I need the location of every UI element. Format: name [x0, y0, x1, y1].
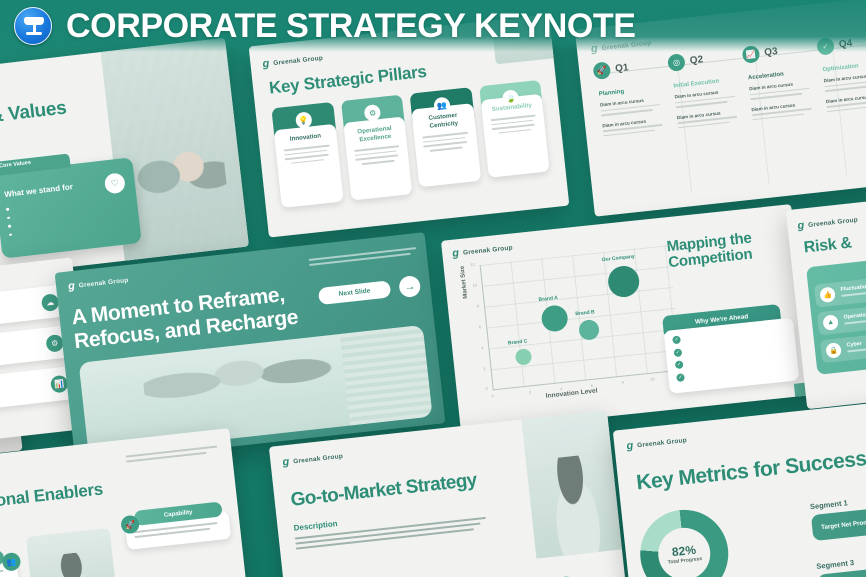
y-axis-label: Market Size: [460, 265, 469, 298]
thumbs-up-icon: 👍: [819, 287, 836, 304]
why-ahead-panel: Why We're Ahead ✓ ✓ ✓ ✓: [662, 303, 799, 394]
timeline-item-title: Diam in arcu cursus: [600, 96, 664, 108]
brand-mark: g: [590, 43, 598, 55]
brand-name: Greenak Group: [463, 244, 513, 256]
segment-label: Segment 1: [809, 486, 866, 511]
brand-name: Greenak Group: [293, 453, 343, 465]
brand-logo: g Greenak Group: [0, 65, 93, 97]
brand-name: Greenak Group: [273, 55, 323, 67]
lock-icon: 🔒: [825, 342, 842, 359]
slide-title: Mission & Values: [0, 94, 98, 137]
quarter-label: Q1: [615, 62, 629, 74]
timeline-column[interactable]: ◎Q2 Initial Execution Diam in arcu cursu…: [667, 47, 746, 136]
slide-photo: [26, 528, 118, 577]
slide-reframe[interactable]: g Greenak Group Next Slide → A Moment to…: [55, 232, 446, 464]
check-icon: ✓: [673, 348, 682, 357]
pillar-label: Customer Centricity: [418, 111, 469, 132]
timeline-item-title: Diam in arcu cursus: [674, 88, 738, 100]
risk-label: Fluctuation: [840, 275, 866, 293]
risk-label: Operational: [843, 303, 866, 321]
slide-title: Key Metrics for Success: [635, 442, 866, 495]
target-icon: ◎: [667, 53, 686, 72]
segment-block: Segment 1 Target Net Promoter Score: 75: [809, 486, 866, 541]
slide-mission-values[interactable]: g Greenak Group Mission & Values C: [0, 38, 249, 285]
timeline-column[interactable]: 🚀Q1 Planning Diam in arcu cursus Diam in…: [592, 55, 671, 144]
warning-triangle-icon: ▲: [822, 314, 839, 331]
chart-up-icon: 📈: [742, 45, 761, 64]
pillar-card[interactable]: ⚙ Operational Excellence: [340, 95, 412, 201]
row-label: Infrastructure: [0, 294, 41, 316]
timeline-column[interactable]: 📈Q3 Acceleration Diam in arcu cursus Dia…: [742, 39, 821, 128]
slide-implementation-timeline[interactable]: g Greenak Group 🚀Q1 Planning Diam in arc…: [575, 0, 866, 217]
check-icon: ✓: [672, 335, 681, 344]
pillar-card[interactable]: 👥 Customer Centricity: [410, 87, 482, 193]
phase-label: Planning: [599, 85, 663, 98]
slide-photo: [490, 14, 557, 64]
brand-mark: g: [626, 441, 634, 453]
brand-name: Greenak Group: [601, 40, 651, 52]
segment-label: Segment 3: [816, 546, 866, 571]
bubble-chart: 12 10 8 6 4 2 0 0 2 4 6 8 10 Brand C Bra…: [480, 245, 682, 390]
panel-title: Strategic R: [813, 258, 866, 279]
quarter-label: Q4: [838, 38, 852, 50]
brand-mark: g: [262, 59, 270, 71]
brand-logo: g Greenak Group: [626, 411, 866, 452]
strategic-risk-panel: Strategic R 👍 Fluctuation ▲ Operational …: [806, 251, 866, 375]
segment-metric-text: Target Net Promoter Score:: [821, 515, 866, 530]
row-label: Data Analytics: [0, 376, 51, 398]
slide-photo: [521, 410, 622, 558]
x-axis-label: Innovation Level: [545, 387, 597, 399]
brand-mark: g: [797, 220, 805, 232]
pillar-label: Innovation: [280, 131, 330, 144]
timeline-column[interactable]: ✓Q4 Optimization Diam in arcu cursus Dia…: [816, 31, 866, 120]
preview-canvas: CORPORATE STRATEGY KEYNOTE g Greenak Gro…: [0, 0, 866, 577]
quarter-label: Q3: [764, 46, 778, 58]
phase-label: Optimization: [822, 60, 866, 73]
brand-mark: g: [452, 248, 460, 260]
check-icon: ✓: [816, 37, 835, 56]
rocket-icon: 🚀: [592, 61, 611, 80]
brand-name: Greenak Group: [808, 217, 858, 229]
brand-mark: g: [282, 457, 290, 469]
progress-donut-chart: 82% Total Progress: [636, 505, 733, 577]
core-values-card: Core Values What we stand for ♡: [0, 157, 142, 259]
risk-label: Cyber: [846, 331, 866, 349]
row-label: Automation Tools: [0, 335, 46, 357]
timeline-item-title: Diam in arcu cursus: [749, 79, 813, 91]
segment-block: Segment 3 Target Net Promoter Score: 5: [816, 546, 866, 577]
slide-mapping-competition[interactable]: g Greenak Group Mapping the Competition …: [441, 204, 811, 432]
quarter-label: Q2: [689, 54, 703, 66]
brand-mark: g: [68, 281, 76, 293]
pillar-label: Sustainability: [487, 101, 537, 114]
check-icon: ✓: [676, 373, 685, 382]
check-icon: ✓: [675, 360, 684, 369]
brand-logo: g Greenak Group: [797, 204, 866, 232]
pillar-card[interactable]: 💡 Innovation: [271, 102, 343, 208]
brand-name: Greenak Group: [637, 437, 687, 449]
keynote-icon: [14, 7, 52, 45]
brand-name: Greenak Group: [79, 277, 129, 289]
slide-key-metrics[interactable]: g Greenak Group Key Metrics for Success …: [613, 398, 866, 577]
slide-key-strategic-pillars[interactable]: g Greenak Group Key Strategic Pillars 💡 …: [249, 14, 570, 237]
pillar-card[interactable]: 🍃 Sustainability: [479, 80, 551, 186]
phase-label: Acceleration: [748, 69, 812, 82]
slide-organizational-enablers[interactable]: g Greenak Group Organizational Enablers …: [0, 428, 249, 577]
pillar-label: Operational Excellence: [350, 124, 401, 145]
